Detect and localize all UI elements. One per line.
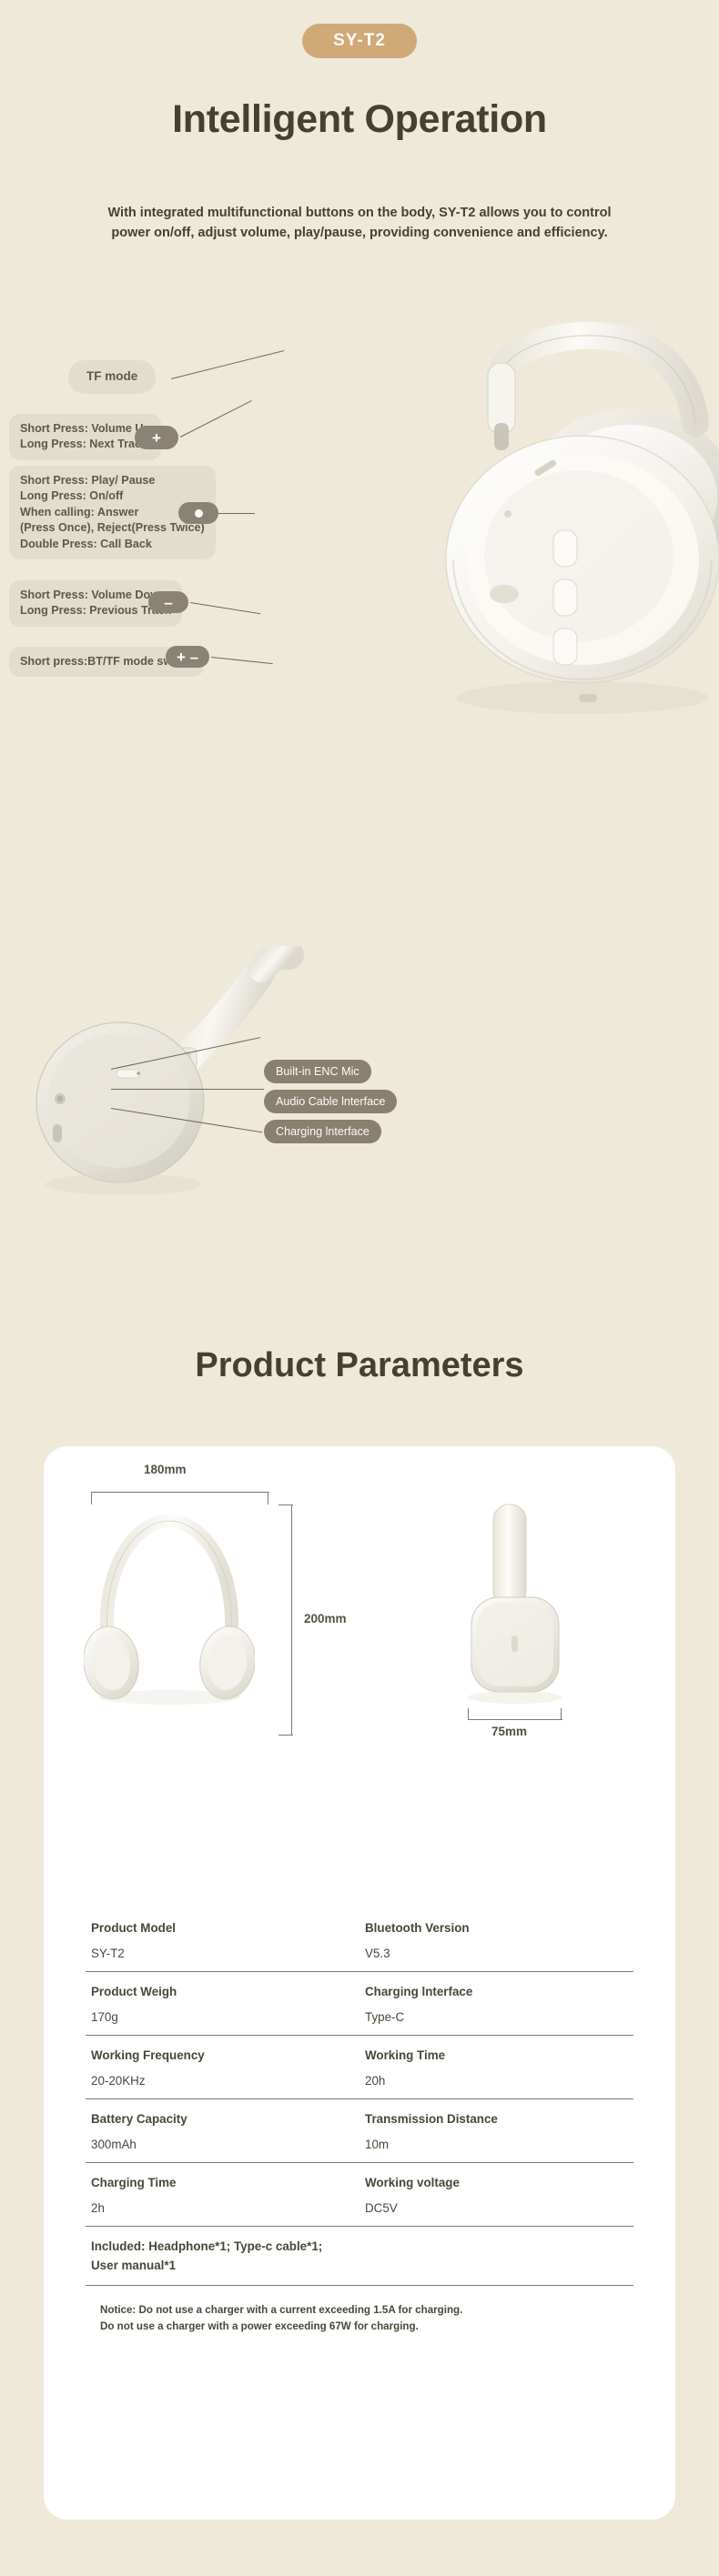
dimension-depth-tick-left xyxy=(468,1708,469,1720)
spec-value: 10m xyxy=(365,2138,633,2151)
callout-play-pause-line-1: Short Press: Play/ Pause xyxy=(20,473,205,488)
included-line-1: Included: Headphone*1; Type-c cable*1; xyxy=(91,2239,633,2253)
spec-cell: Battery Capacity 300mAh xyxy=(86,2112,359,2151)
spec-cell: Charging Time 2h xyxy=(86,2176,359,2215)
spec-value: 20-20KHz xyxy=(91,2074,359,2088)
spec-value: SY-T2 xyxy=(91,1947,359,1960)
headphone-illustration xyxy=(309,287,719,805)
table-row: Product Model SY-T2 Bluetooth Version V5… xyxy=(86,1908,633,1972)
spec-key: Battery Capacity xyxy=(91,2112,359,2126)
spec-key: Working Time xyxy=(365,2048,633,2062)
table-row: Product Weigh 170g Charging lnterface Ty… xyxy=(86,1972,633,2036)
spec-key: Bluetooth Version xyxy=(365,1921,633,1935)
page-title: Intelligent Operation xyxy=(0,97,719,142)
spec-key: Transmission Distance xyxy=(365,2112,633,2126)
dimension-depth-label: 75mm xyxy=(491,1725,527,1738)
spec-key: Product Model xyxy=(91,1921,359,1935)
spec-value: 2h xyxy=(91,2201,359,2215)
dimension-width-label: 180mm xyxy=(144,1463,187,1476)
spec-value: DC5V xyxy=(365,2201,633,2215)
description-line-1: With integrated multifunctional buttons … xyxy=(0,203,719,223)
notice-line-2: Do not use a charger with a power exceed… xyxy=(100,2319,633,2335)
leader-line-audio-cable xyxy=(111,1089,264,1090)
notice-line-1: Notice: Do not use a charger with a curr… xyxy=(100,2302,633,2319)
front-view-illustration xyxy=(84,1503,255,1708)
spec-key: Charging Time xyxy=(91,2176,359,2189)
spec-cell: Product Model SY-T2 xyxy=(86,1921,359,1960)
table-row: Working Frequency 20-20KHz Working Time … xyxy=(86,2036,633,2099)
dimension-width-tick-right xyxy=(268,1492,268,1504)
table-row: Charging Time 2h Working voltage DC5V xyxy=(86,2163,633,2227)
callout-tf-mode: TF mode xyxy=(68,360,156,394)
operation-diagram: TF mode Short Press: Volume Up Long Pres… xyxy=(0,264,719,828)
parameters-card: 180mm 200mm 75mm Product Model SY-T2 xyxy=(44,1446,675,2520)
chip-bt-tf-switch: + – xyxy=(166,646,209,668)
model-badge: SY-T2 xyxy=(302,24,417,58)
dimension-height-line xyxy=(291,1504,292,1736)
callout-play-pause-line-5: Double Press: Call Back xyxy=(20,537,205,552)
spec-cell: Charging lnterface Type-C xyxy=(359,1985,633,2024)
callout-play-pause-line-3: When calling: Answer xyxy=(20,505,205,520)
leader-line-volume-down xyxy=(190,602,260,614)
spec-value: Type-C xyxy=(365,2010,633,2024)
spec-key: Product Weigh xyxy=(91,1985,359,1998)
side-view-svg xyxy=(455,1494,573,1708)
leader-line-tf-mode xyxy=(171,350,284,379)
spec-value: 170g xyxy=(91,2010,359,2024)
spec-cell: Working Frequency 20-20KHz xyxy=(86,2048,359,2088)
leader-line-play-pause xyxy=(218,513,255,514)
page-description: With integrated multifunctional buttons … xyxy=(0,203,719,244)
callout-volume-up-line-1: Short Press: Volume Up xyxy=(20,421,150,437)
table-row-included: Included: Headphone*1; Type-c cable*1; U… xyxy=(86,2227,633,2286)
features-diagram: Built-in ENC Mic Audio Cable lnterface C… xyxy=(0,928,719,1228)
included-cell: Included: Headphone*1; Type-c cable*1; U… xyxy=(86,2239,633,2274)
dimension-height-tick-bottom xyxy=(278,1735,293,1736)
spec-key: Working voltage xyxy=(365,2176,633,2189)
description-line-2: power on/off, adjust volume, play/pause,… xyxy=(0,223,719,243)
dimension-height-tick-top xyxy=(278,1504,293,1505)
spec-key: Charging lnterface xyxy=(365,1985,633,1998)
spec-value: V5.3 xyxy=(365,1947,633,1960)
product-detail-page: SY-T2 Intelligent Operation With integra… xyxy=(0,0,719,2576)
spec-cell: Working voltage DC5V xyxy=(359,2176,633,2215)
spec-cell: Bluetooth Version V5.3 xyxy=(359,1921,633,1960)
plus-icon: + xyxy=(152,430,161,446)
leader-line-volume-up xyxy=(180,400,252,438)
specs-table: Product Model SY-T2 Bluetooth Version V5… xyxy=(86,1908,633,2335)
spec-value: 20h xyxy=(365,2074,633,2088)
chip-multifunction-button xyxy=(178,502,218,524)
dimension-height-label: 200mm xyxy=(304,1612,347,1625)
spec-cell: Transmission Distance 10m xyxy=(359,2112,633,2151)
parameters-title: Product Parameters xyxy=(0,1346,719,1385)
chip-volume-down: – xyxy=(148,591,188,613)
callout-volume-up-line-2: Long Press: Next Track xyxy=(20,437,150,452)
side-view-illustration xyxy=(455,1494,573,1708)
table-row: Battery Capacity 300mAh Transmission Dis… xyxy=(86,2099,633,2163)
spec-cell: Working Time 20h xyxy=(359,2048,633,2088)
spec-cell: Product Weigh 170g xyxy=(86,1985,359,2024)
spec-value: 300mAh xyxy=(91,2138,359,2151)
spec-key: Working Frequency xyxy=(91,2048,359,2062)
dimension-depth-line xyxy=(468,1719,562,1720)
leader-line-bt-tf-switch xyxy=(211,657,273,664)
front-view-svg xyxy=(84,1503,255,1708)
chip-volume-up: + xyxy=(135,426,178,449)
notice-text: Notice: Do not use a charger with a curr… xyxy=(86,2286,633,2335)
headphone-svg xyxy=(309,287,719,805)
dimension-depth-tick-right xyxy=(561,1708,562,1720)
label-audio-cable-interface: Audio Cable lnterface xyxy=(264,1090,397,1113)
minus-icon: – xyxy=(164,595,172,610)
dimension-width-line xyxy=(91,1492,269,1493)
included-line-2: User manual*1 xyxy=(91,2259,633,2272)
label-built-in-enc-mic: Built-in ENC Mic xyxy=(264,1060,371,1083)
dimension-width-tick-left xyxy=(91,1492,92,1504)
plus-minus-icon: + – xyxy=(177,649,198,665)
callout-play-pause-line-2: Long Press: On/off xyxy=(20,488,205,504)
label-charging-interface: Charging lnterface xyxy=(264,1120,381,1143)
callout-play-pause-line-4: (Press Once), Reject(Press Twice) xyxy=(20,520,205,536)
